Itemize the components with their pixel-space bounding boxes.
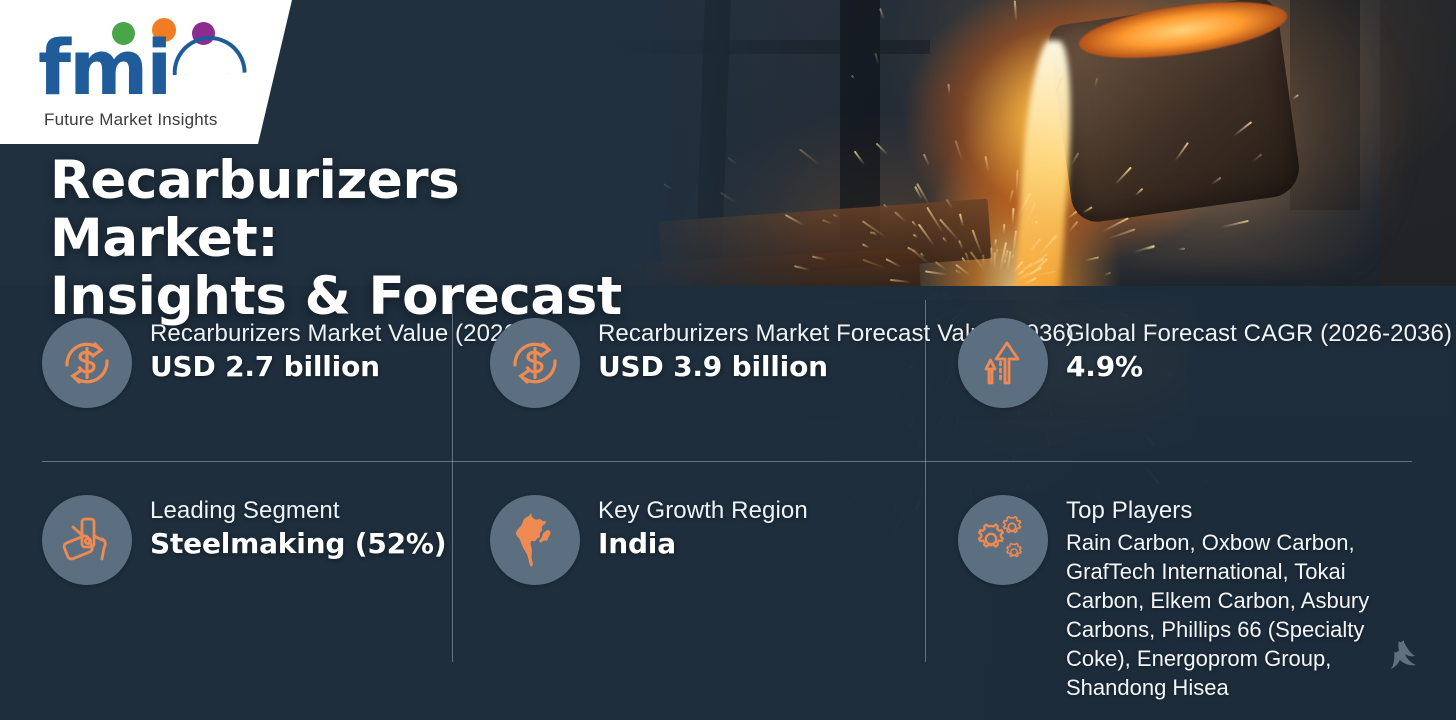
logo-tagline: Future Market Insights <box>44 110 218 130</box>
page-title-line1: Recarburizers Market: <box>50 152 690 268</box>
logo-panel: fmi Future Market Insights <box>0 0 292 144</box>
stat-label: Global Forecast CAGR (2026-2036) <box>1066 319 1452 348</box>
dollar-refresh-icon <box>42 318 132 408</box>
growth-arrows-icon <box>958 318 1048 408</box>
stat-value: Steelmaking (52%) <box>150 527 446 561</box>
logo-wordmark: fmi <box>38 30 170 106</box>
ladle-icon <box>42 495 132 585</box>
stat-cell-cagr: Global Forecast CAGR (2026-2036) 4.9% <box>958 318 1452 408</box>
infographic-canvas: fmi Future Market Insights Recarburizers… <box>0 0 1456 720</box>
stat-value: India <box>598 527 808 561</box>
stat-label: Top Players <box>1066 496 1416 525</box>
stat-label: Recarburizers Market Value (2026) <box>150 319 525 348</box>
page-title: Recarburizers Market: Insights & Forecas… <box>50 152 690 326</box>
divider-horizontal <box>42 461 1412 462</box>
stat-cell-market-value: Recarburizers Market Value (2026) USD 2.… <box>42 318 525 408</box>
gears-icon <box>958 495 1048 585</box>
bird-watermark-icon <box>1378 636 1432 676</box>
logo-arc <box>171 35 246 76</box>
stat-cell-growth-region: Key Growth Region India <box>490 495 808 585</box>
stat-label: Leading Segment <box>150 496 446 525</box>
dollar-refresh-icon <box>490 318 580 408</box>
india-map-icon <box>490 495 580 585</box>
stat-label: Key Growth Region <box>598 496 808 525</box>
stat-cell-top-players: Top Players Rain Carbon, Oxbow Carbon, G… <box>958 495 1416 702</box>
stat-cell-leading-segment: Leading Segment Steelmaking (52%) <box>42 495 446 585</box>
stat-value: USD 2.7 billion <box>150 350 525 384</box>
stat-value: 4.9% <box>1066 350 1452 384</box>
top-players-list: Rain Carbon, Oxbow Carbon, GrafTech Inte… <box>1066 528 1416 702</box>
